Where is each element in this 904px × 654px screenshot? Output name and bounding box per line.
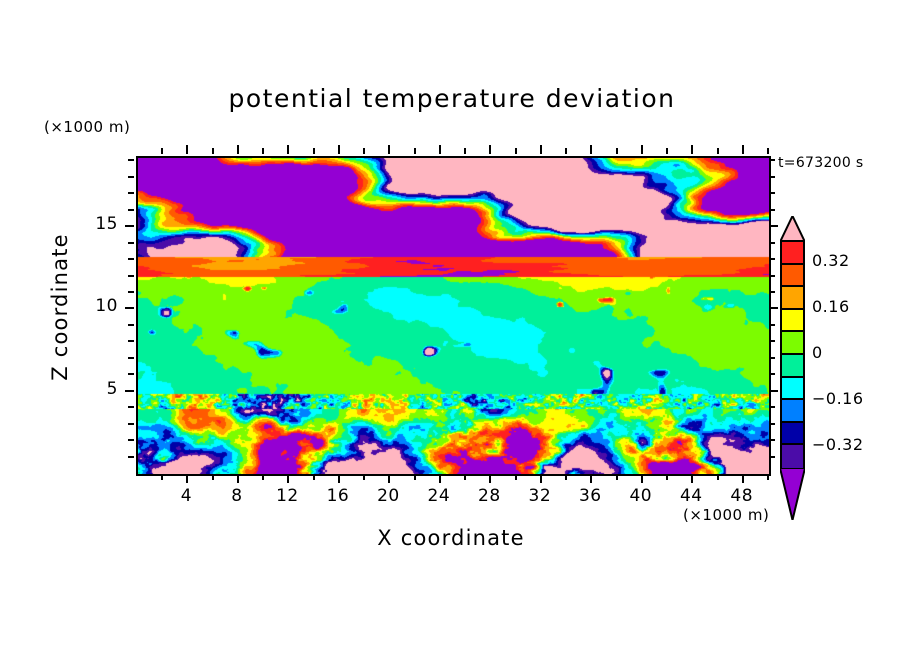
x-axis-title: X coordinate [251, 526, 651, 550]
y-major-tick [769, 307, 778, 309]
x-minor-tick [262, 474, 264, 480]
x-major-tick [237, 145, 239, 154]
colorbar-band [782, 242, 803, 265]
x-minor-tick [313, 474, 315, 480]
x-major-tick [287, 474, 289, 483]
y-minor-tick [128, 192, 134, 194]
x-minor-tick [515, 474, 517, 480]
x-minor-tick [666, 148, 668, 154]
x-minor-tick [717, 148, 719, 154]
x-minor-tick [515, 148, 517, 154]
colorbar-band [782, 423, 803, 446]
x-minor-tick [161, 148, 163, 154]
x-major-tick [338, 145, 340, 154]
x-major-tick [691, 474, 693, 483]
colorbar-label: 0.16 [812, 297, 850, 316]
x-major-tick [641, 145, 643, 154]
x-major-tick [439, 474, 441, 483]
y-minor-tick [769, 439, 775, 441]
y-minor-tick [769, 176, 775, 178]
x-major-tick [287, 145, 289, 154]
x-tick-label: 8 [214, 486, 260, 506]
x-minor-tick [414, 148, 416, 154]
y-minor-tick [769, 373, 775, 375]
x-tick-label: 32 [517, 486, 563, 506]
x-major-tick [186, 145, 188, 154]
colorbar-label: −0.16 [812, 389, 864, 408]
colorbar-band [782, 400, 803, 423]
x-major-tick [742, 474, 744, 483]
y-minor-tick [769, 192, 775, 194]
y-minor-tick [128, 242, 134, 244]
y-minor-tick [769, 258, 775, 260]
y-minor-tick [769, 456, 775, 458]
colorbar-band [782, 445, 803, 468]
x-major-tick [388, 145, 390, 154]
x-minor-tick [212, 474, 214, 480]
x-major-tick [237, 474, 239, 483]
contour-plot-area [136, 156, 771, 476]
colorbar-band [782, 332, 803, 355]
y-minor-tick [128, 159, 134, 161]
x-minor-tick [363, 148, 365, 154]
y-tick-label: 10 [74, 296, 118, 316]
y-minor-tick [128, 357, 134, 359]
x-minor-tick [767, 474, 769, 480]
y-minor-tick [128, 291, 134, 293]
y-major-tick [769, 225, 778, 227]
x-minor-tick [313, 148, 315, 154]
colorbar-label: −0.32 [812, 435, 864, 454]
colorbar-band [782, 287, 803, 310]
y-minor-tick [128, 406, 134, 408]
x-major-tick [540, 474, 542, 483]
contour-field-canvas [138, 158, 769, 474]
x-tick-label: 36 [567, 486, 613, 506]
y-minor-tick [128, 209, 134, 211]
x-major-tick [590, 145, 592, 154]
x-minor-tick [212, 148, 214, 154]
y-minor-tick [769, 242, 775, 244]
x-tick-label: 16 [315, 486, 361, 506]
x-tick-label: 20 [365, 486, 411, 506]
x-tick-label: 44 [668, 486, 714, 506]
x-major-tick [590, 474, 592, 483]
x-minor-tick [565, 474, 567, 480]
y-axis-title: Z coordinate [48, 217, 72, 397]
x-minor-tick [565, 148, 567, 154]
colorbar-label: 0.32 [812, 251, 850, 270]
y-minor-tick [128, 176, 134, 178]
y-minor-tick [769, 275, 775, 277]
y-minor-tick [769, 406, 775, 408]
x-tick-label: 48 [719, 486, 765, 506]
x-tick-label: 24 [416, 486, 462, 506]
x-minor-tick [616, 148, 618, 154]
y-major-tick [125, 225, 134, 227]
x-major-tick [540, 145, 542, 154]
x-major-tick [489, 145, 491, 154]
y-minor-tick [128, 423, 134, 425]
x-tick-label: 28 [466, 486, 512, 506]
x-major-tick [186, 474, 188, 483]
colorbar-band [782, 265, 803, 288]
y-minor-tick [128, 324, 134, 326]
y-tick-label: 15 [74, 214, 118, 234]
x-major-tick [489, 474, 491, 483]
colorbar-band [782, 355, 803, 378]
x-axis-unit-label: (×1000 m) [683, 506, 769, 524]
x-minor-tick [616, 474, 618, 480]
x-minor-tick [464, 474, 466, 480]
y-minor-tick [128, 373, 134, 375]
x-minor-tick [161, 474, 163, 480]
y-minor-tick [769, 159, 775, 161]
y-minor-tick [769, 423, 775, 425]
x-major-tick [691, 145, 693, 154]
y-minor-tick [769, 357, 775, 359]
y-minor-tick [769, 324, 775, 326]
colorbar [780, 240, 805, 470]
x-major-tick [742, 145, 744, 154]
colorbar-over-arrow [780, 216, 805, 242]
x-minor-tick [363, 474, 365, 480]
x-minor-tick [717, 474, 719, 480]
x-minor-tick [666, 474, 668, 480]
y-minor-tick [128, 258, 134, 260]
x-minor-tick [262, 148, 264, 154]
y-major-tick [769, 390, 778, 392]
x-tick-label: 12 [264, 486, 310, 506]
y-minor-tick [128, 456, 134, 458]
page-title: potential temperature deviation [0, 84, 904, 113]
y-major-tick [125, 307, 134, 309]
colorbar-band [782, 310, 803, 333]
x-major-tick [439, 145, 441, 154]
colorbar-label: 0 [812, 343, 823, 362]
x-tick-label: 4 [163, 486, 209, 506]
y-minor-tick [128, 439, 134, 441]
y-minor-tick [769, 209, 775, 211]
y-major-tick [125, 390, 134, 392]
y-minor-tick [128, 275, 134, 277]
x-major-tick [338, 474, 340, 483]
x-tick-label: 40 [618, 486, 664, 506]
timestamp-annotation: t=673200 s [778, 155, 863, 171]
y-minor-tick [769, 340, 775, 342]
colorbar-under-arrow [780, 468, 805, 520]
x-major-tick [641, 474, 643, 483]
colorbar-band [782, 378, 803, 401]
y-minor-tick [128, 340, 134, 342]
x-minor-tick [464, 148, 466, 154]
x-major-tick [388, 474, 390, 483]
x-minor-tick [414, 474, 416, 480]
y-minor-tick [769, 291, 775, 293]
x-minor-tick [767, 148, 769, 154]
y-tick-label: 5 [74, 379, 118, 399]
z-axis-unit-label: (×1000 m) [44, 118, 130, 136]
